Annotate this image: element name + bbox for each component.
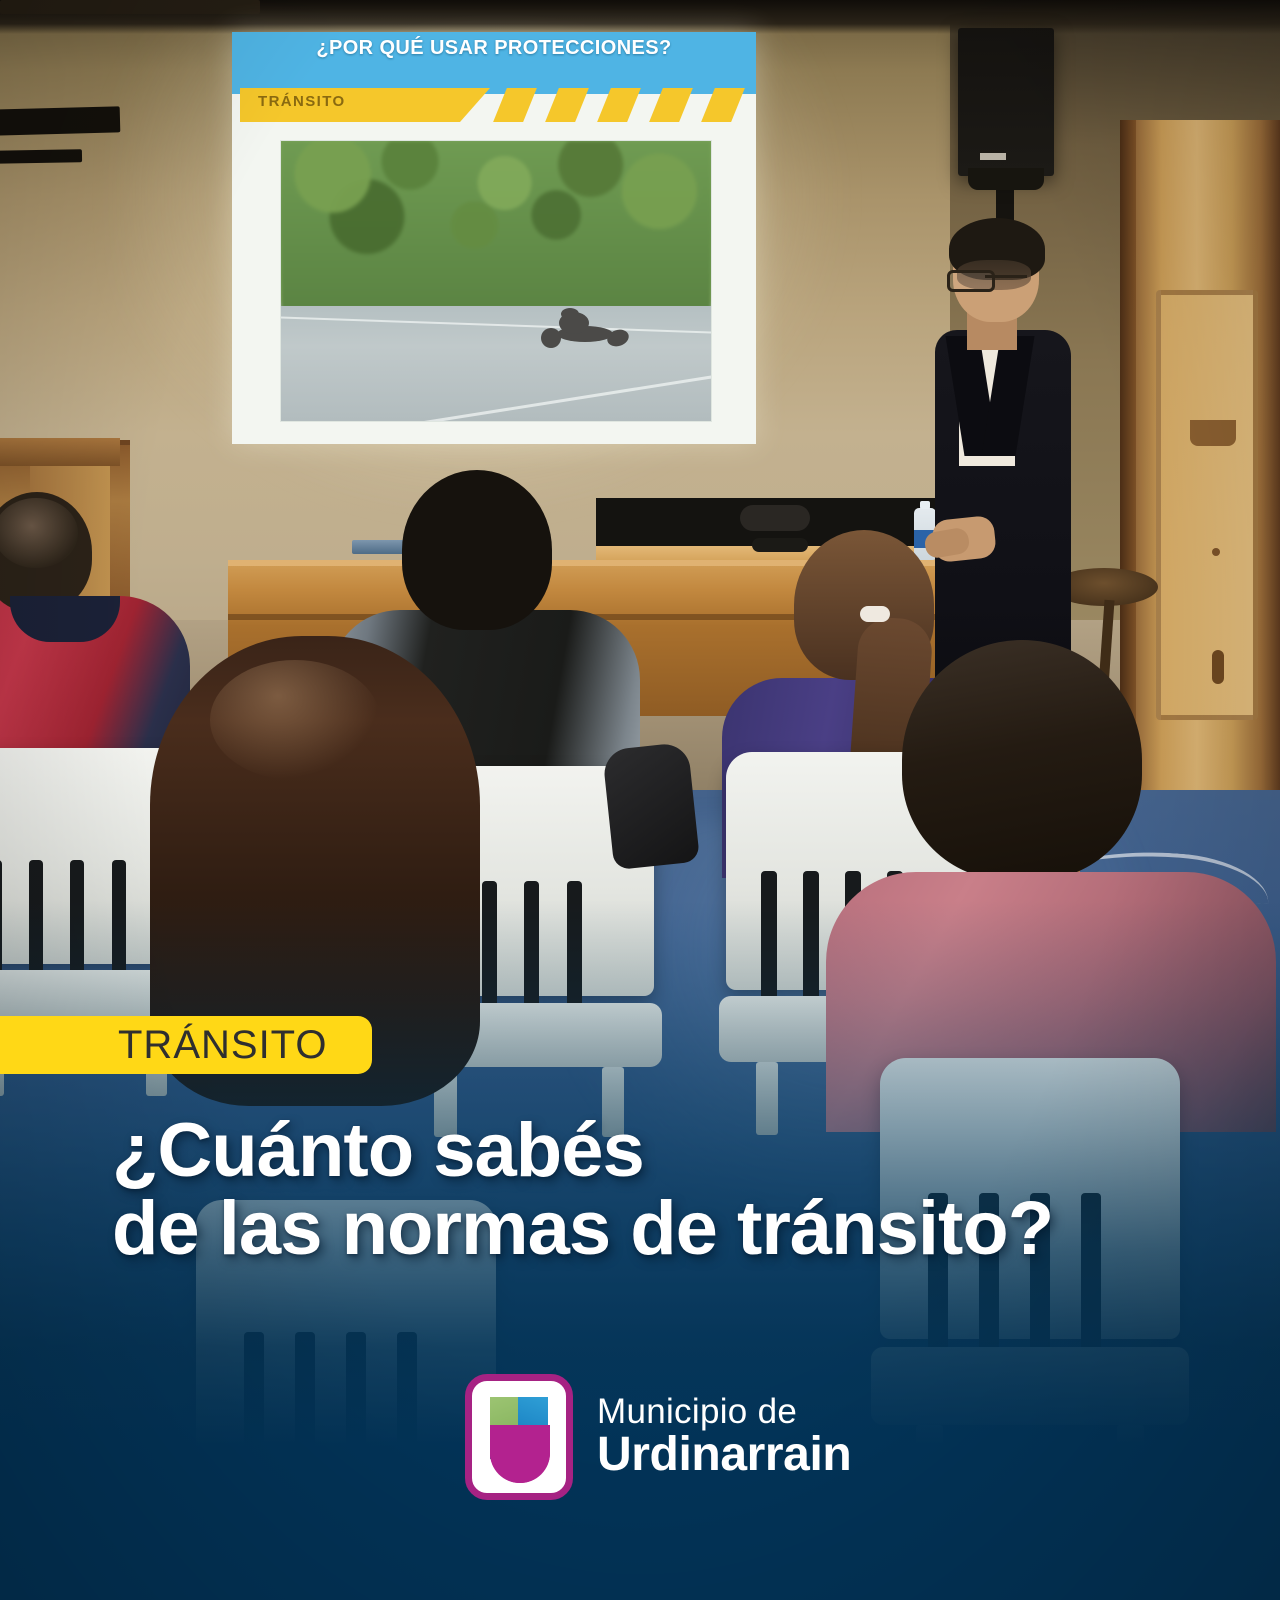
chair-leg bbox=[916, 1425, 943, 1511]
tape-stripe-5 bbox=[701, 88, 745, 122]
slide-tape-label: TRÁNSITO bbox=[258, 93, 346, 110]
rear-equipment-detail bbox=[740, 505, 810, 531]
tape-stripe-2 bbox=[545, 88, 589, 122]
poster-canvas: ¿POR QUÉ USAR PROTECCIONES? TRÁNSITO bbox=[0, 0, 1280, 1600]
wall-rail-upper bbox=[0, 106, 120, 135]
cabinet-knob bbox=[1212, 548, 1220, 556]
logo-line-2: Urdinarrain bbox=[597, 1431, 851, 1480]
attendee-raglan-head bbox=[402, 470, 552, 630]
speaker-brand-badge bbox=[980, 153, 1006, 160]
logo-line-1: Municipio de bbox=[597, 1394, 851, 1430]
photo-fallen-motorcycle bbox=[539, 314, 631, 348]
hair-tie bbox=[860, 606, 890, 622]
background-photo: ¿POR QUÉ USAR PROTECCIONES? TRÁNSITO bbox=[0, 0, 1280, 1600]
attendee-pink-sweater bbox=[836, 640, 1266, 1110]
wall-rail-top bbox=[0, 0, 260, 14]
wall-rail-lower bbox=[0, 149, 82, 164]
slide-title: ¿POR QUÉ USAR PROTECCIONES? bbox=[232, 37, 756, 60]
left-cabinet-top bbox=[0, 438, 120, 466]
attendee-long-hair-sheen bbox=[210, 660, 380, 780]
category-badge: TRÁNSITO bbox=[0, 1016, 372, 1074]
tape-stripe-3 bbox=[597, 88, 641, 122]
chair-leg bbox=[1117, 1425, 1144, 1511]
tape-stripe-4 bbox=[649, 88, 693, 122]
presentation-slide: ¿POR QUÉ USAR PROTECCIONES? TRÁNSITO bbox=[232, 32, 756, 444]
u-segment-magenta bbox=[490, 1425, 550, 1483]
attendee-pink-head bbox=[902, 640, 1142, 880]
presenter-glasses-arm bbox=[985, 275, 1027, 278]
municipality-logo: Municipio de Urdinarrain bbox=[465, 1374, 851, 1500]
presenter-glasses bbox=[947, 270, 995, 292]
cabinet-notch bbox=[1190, 420, 1236, 446]
tape-stripe-1 bbox=[493, 88, 537, 122]
category-badge-label: TRÁNSITO bbox=[118, 1025, 328, 1065]
slide-crash-photo bbox=[280, 140, 712, 422]
slide-tape-band: TRÁNSITO bbox=[232, 88, 756, 122]
loudspeaker bbox=[958, 28, 1054, 176]
projection-screen: ¿POR QUÉ USAR PROTECCIONES? TRÁNSITO bbox=[232, 32, 756, 444]
chair-seat bbox=[187, 1496, 505, 1576]
photo-trees bbox=[281, 141, 711, 309]
logo-wordmark: Municipio de Urdinarrain bbox=[597, 1394, 851, 1481]
backpack-on-floor bbox=[602, 742, 700, 870]
u-logo-icon bbox=[465, 1374, 573, 1500]
chair-seat bbox=[871, 1347, 1189, 1425]
speaker-cowl bbox=[968, 168, 1044, 190]
headline: ¿Cuánto sabés de las normas de tránsito? bbox=[112, 1112, 1232, 1267]
